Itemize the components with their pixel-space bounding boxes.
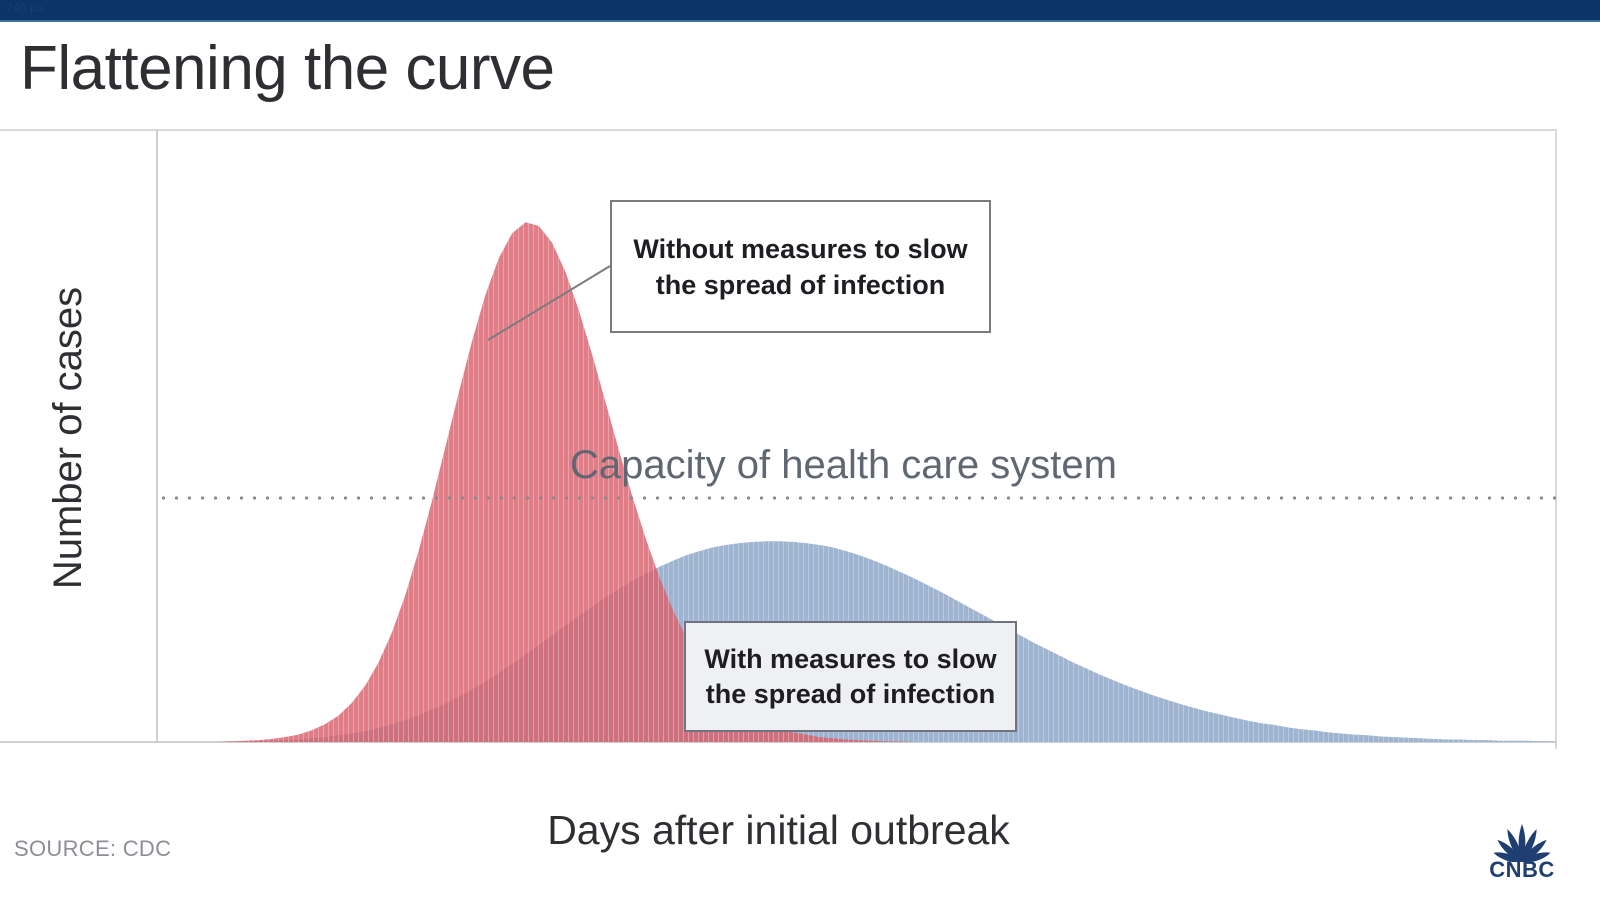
callout-leader-line (484, 262, 614, 344)
x-axis-title: Days after initial outbreak (0, 805, 1557, 855)
cnbc-logo: CNBC (1466, 818, 1578, 880)
capacity-threshold-line (157, 496, 1556, 500)
topbar-underline (0, 20, 1600, 22)
cnbc-wordmark: CNBC (1466, 858, 1578, 882)
chart-right-border (1555, 129, 1557, 749)
callout-without-measures-text: Without measures to slow the spread of i… (612, 231, 989, 303)
y-axis-title: Number of cases (45, 268, 91, 608)
browser-ruler-bar: 740 px (0, 0, 1600, 20)
callout-without-measures: Without measures to slow the spread of i… (610, 200, 991, 333)
capacity-threshold-label: Capacity of health care system (570, 441, 1117, 489)
peacock-icon (1466, 818, 1578, 862)
source-attribution: SOURCE: CDC (14, 836, 171, 862)
page-title: Flattening the curve (20, 33, 555, 105)
callout-with-measures-text: With measures to slow the spread of infe… (686, 642, 1015, 712)
ruler-measurement-label: 740 px (6, 1, 43, 15)
callout-with-measures: With measures to slow the spread of infe… (684, 621, 1017, 732)
